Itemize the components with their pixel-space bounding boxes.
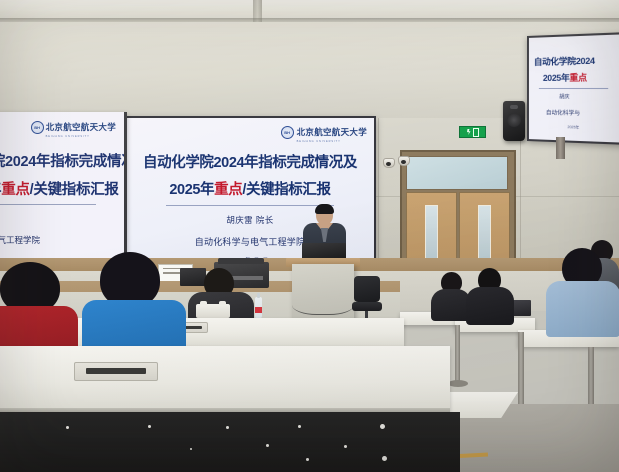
university-name-zh-left: 北京航空航天大学 bbox=[46, 123, 116, 133]
highlight-speck bbox=[266, 444, 269, 447]
chair-back bbox=[354, 276, 380, 302]
side-monitor: 自动化学院2024 2025年重点 胡庆 自动化科学与 2025年 bbox=[527, 32, 619, 145]
projection-screen-left: BH 北京航空航天大学 BEIHANG UNIVERSITY 自动化学院2024… bbox=[0, 112, 127, 267]
side-monitor-title-1: 自动化学院2024 bbox=[534, 54, 595, 68]
ceiling-light-strip bbox=[0, 0, 619, 11]
highlight-speck bbox=[380, 424, 385, 429]
left-screen-divider bbox=[0, 204, 96, 205]
door-transom-window bbox=[406, 156, 508, 190]
university-logo-text: 北京航空航天大学 BEIHANG UNIVERSITY bbox=[297, 122, 367, 143]
highlight-speck bbox=[226, 426, 229, 429]
highlight-speck bbox=[298, 425, 301, 428]
presenter-hair bbox=[315, 204, 334, 214]
left-screen-title-2-post: /关键指标汇报 bbox=[30, 182, 119, 198]
highlight-speck bbox=[382, 456, 387, 461]
grommet-slot bbox=[86, 368, 145, 374]
university-seal-icon: BH bbox=[31, 121, 44, 134]
attendee-body bbox=[546, 281, 619, 337]
left-screen-title-2-hl: 重点 bbox=[1, 182, 29, 198]
attendee-body bbox=[466, 287, 514, 325]
highlight-speck bbox=[66, 426, 69, 429]
side-monitor-title-2-hl: 重点 bbox=[569, 72, 586, 83]
attendee-body bbox=[431, 289, 471, 321]
side-monitor-department: 自动化科学与 bbox=[546, 108, 580, 117]
side-monitor-stand bbox=[556, 137, 565, 159]
desktop-dock bbox=[196, 304, 230, 318]
security-camera-icon bbox=[383, 158, 395, 168]
conference-desk-front bbox=[0, 346, 450, 412]
lectern-cable bbox=[292, 290, 354, 315]
university-logo: BH 北京航空航天大学 BEIHANG UNIVERSITY bbox=[281, 122, 367, 143]
wall-speaker bbox=[503, 101, 525, 141]
attendee bbox=[548, 248, 616, 334]
desk-leg bbox=[518, 332, 524, 408]
university-logo-left: BH 北京航空航天大学 BEIHANG UNIVERSITY bbox=[31, 117, 116, 138]
left-screen-title-2: 2025年重点/关键指标汇报 bbox=[0, 178, 127, 199]
wall-panel-seam bbox=[378, 118, 379, 270]
water-bottle bbox=[255, 297, 262, 319]
exit-door-icon bbox=[473, 128, 479, 137]
running-man-icon bbox=[467, 129, 472, 135]
chair-seat bbox=[352, 302, 382, 311]
highlight-speck bbox=[306, 458, 309, 461]
slide-title-line-2: 2025年重点/关键指标汇报 bbox=[126, 178, 374, 199]
left-screen-department: 自动化科学与电气工程学院 bbox=[0, 234, 40, 246]
slide-title-line-1: 自动化学院2024年指标完成情况及 bbox=[126, 151, 374, 172]
university-name-zh: 北京航空航天大学 bbox=[297, 128, 367, 138]
slide-title-keyword-highlight: 重点 bbox=[214, 182, 242, 198]
exit-sign bbox=[459, 126, 486, 138]
cable-grommet bbox=[74, 362, 158, 381]
side-monitor-title-2: 2025年重点 bbox=[543, 71, 587, 84]
under-desk-shadow bbox=[0, 412, 460, 472]
side-monitor-divider bbox=[539, 88, 608, 89]
office-chair[interactable] bbox=[352, 276, 382, 318]
side-monitor-presenter: 胡庆 bbox=[559, 93, 569, 100]
slide-title-line-2-pre: 2025年 bbox=[169, 182, 214, 198]
attendee bbox=[431, 272, 471, 320]
desk-leg bbox=[455, 325, 460, 383]
desk-foot bbox=[448, 380, 468, 387]
attendee bbox=[466, 268, 514, 324]
highlight-speck bbox=[344, 445, 347, 448]
university-logo-text-left: 北京航空航天大学 BEIHANG UNIVERSITY bbox=[46, 117, 116, 138]
university-seal-icon: BH bbox=[281, 126, 294, 139]
university-name-en: BEIHANG UNIVERSITY bbox=[297, 140, 367, 143]
slide-title-line-2-post: /关键指标汇报 bbox=[242, 182, 330, 198]
security-camera-icon bbox=[398, 156, 410, 166]
bottle-label bbox=[255, 307, 262, 313]
highlight-speck bbox=[148, 425, 151, 428]
left-screen-title-1: 自动化学院2024年指标完成情况及 bbox=[0, 150, 124, 171]
university-name-en-left: BEIHANG UNIVERSITY bbox=[46, 135, 116, 138]
side-monitor-title-2-pre: 2025年 bbox=[543, 73, 570, 83]
side-monitor-date: 2025年 bbox=[567, 125, 579, 131]
lecture-hall-scene: 自动化学院2024 2025年重点 胡庆 自动化科学与 2025年 BH 北京航… bbox=[0, 0, 619, 472]
highlight-speck bbox=[190, 448, 192, 450]
